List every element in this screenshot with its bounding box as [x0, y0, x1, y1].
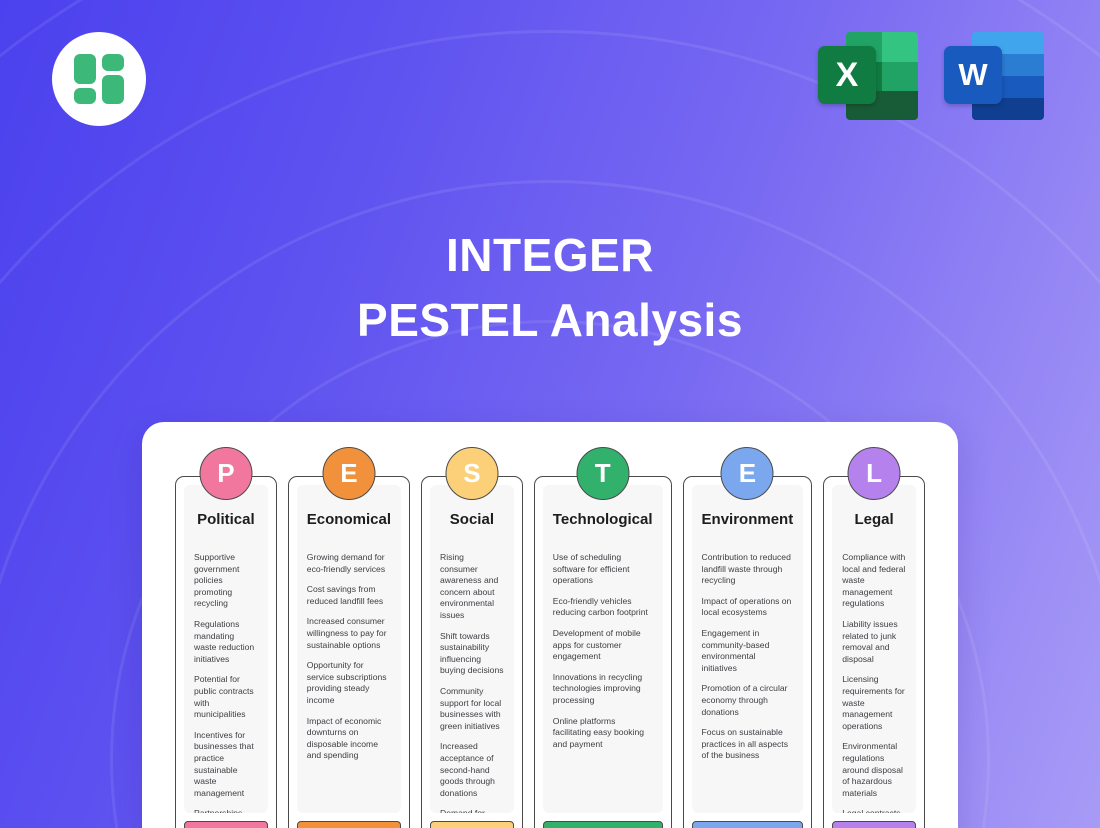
- column-title-environment: Environment: [702, 511, 794, 528]
- point-item: Potential for public contracts with muni…: [194, 674, 258, 720]
- point-item: Impact of economic downturns on disposab…: [307, 716, 391, 762]
- brand-logo[interactable]: [52, 32, 146, 126]
- column-title-economical: Economical: [307, 511, 391, 528]
- column-points-social: Rising consumer awareness and concern ab…: [440, 552, 504, 813]
- title-company: INTEGER: [0, 224, 1100, 286]
- column-title-social: Social: [440, 511, 504, 528]
- letter-badge-environment: E: [721, 447, 774, 500]
- pestel-column-environment[interactable]: EEnvironmentContribution to reduced land…: [683, 476, 813, 828]
- point-item: Incentives for businesses that practice …: [194, 730, 258, 800]
- point-item: Partnerships with local governments for …: [194, 808, 258, 813]
- word-letter-tile: W: [944, 46, 1002, 104]
- point-item: Environmental regulations around disposa…: [842, 741, 906, 799]
- excel-letter-tile: X: [818, 46, 876, 104]
- excel-band-2: [882, 32, 918, 62]
- logo-square-bottom-left: [74, 88, 96, 104]
- column-footer-bar-social: [430, 821, 514, 828]
- point-item: Growing demand for eco-friendly services: [307, 552, 391, 575]
- point-item: Licensing requirements for waste managem…: [842, 674, 906, 732]
- point-item: Eco-friendly vehicles reducing carbon fo…: [553, 596, 653, 619]
- point-item: Use of scheduling software for efficient…: [553, 552, 653, 587]
- point-item: Shift towards sustainability influencing…: [440, 631, 504, 677]
- column-body-economical: EconomicalGrowing demand for eco-friendl…: [297, 485, 401, 813]
- point-item: Opportunity for service subscriptions pr…: [307, 660, 391, 706]
- excel-band-4: [882, 62, 918, 91]
- column-title-technological: Technological: [553, 511, 653, 528]
- point-item: Promotion of a circular economy through …: [702, 683, 794, 718]
- logo-square-top-left: [74, 54, 96, 84]
- column-footer-bar-legal: [832, 821, 916, 828]
- letter-badge-economical: E: [322, 447, 375, 500]
- pestel-panel: PPoliticalSupportive government policies…: [142, 422, 958, 828]
- pestel-column-technological[interactable]: TTechnologicalUse of scheduling software…: [534, 476, 672, 828]
- page-title: INTEGER PESTEL Analysis: [0, 224, 1100, 354]
- column-body-environment: EnvironmentContribution to reduced landf…: [692, 485, 804, 813]
- column-points-political: Supportive government policies promoting…: [194, 552, 258, 813]
- pestel-column-economical[interactable]: EEconomicalGrowing demand for eco-friend…: [288, 476, 410, 828]
- column-footer-bar-technological: [543, 821, 663, 828]
- point-item: Increased consumer willingness to pay fo…: [307, 616, 391, 651]
- column-points-environment: Contribution to reduced landfill waste t…: [702, 552, 794, 762]
- title-subject: PESTEL Analysis: [0, 286, 1100, 354]
- point-item: Demand for educational resources on wast…: [440, 808, 504, 813]
- column-points-legal: Compliance with local and federal waste …: [842, 552, 906, 813]
- point-item: Contribution to reduced landfill waste t…: [702, 552, 794, 587]
- logo-square-bottom-right: [102, 75, 124, 104]
- point-item: Focus on sustainable practices in all as…: [702, 727, 794, 762]
- point-item: Engagement in community-based environmen…: [702, 628, 794, 674]
- column-title-political: Political: [194, 511, 258, 528]
- point-item: Community support for local businesses w…: [440, 686, 504, 732]
- point-item: Cost savings from reduced landfill fees: [307, 584, 391, 607]
- pestel-column-legal[interactable]: LLegalCompliance with local and federal …: [823, 476, 925, 828]
- point-item: Regulations mandating waste reduction in…: [194, 619, 258, 665]
- pestel-column-political[interactable]: PPoliticalSupportive government policies…: [175, 476, 277, 828]
- point-item: Legal contracts with recycling centers a…: [842, 808, 906, 813]
- point-item: Online platforms facilitating easy booki…: [553, 716, 653, 751]
- squares-grid-logo-icon: [74, 54, 124, 104]
- pestel-column-social[interactable]: SSocialRising consumer awareness and con…: [421, 476, 523, 828]
- point-item: Development of mobile apps for customer …: [553, 628, 653, 663]
- logo-square-top-right: [102, 54, 124, 71]
- point-item: Innovations in recycling technologies im…: [553, 672, 653, 707]
- column-body-social: SocialRising consumer awareness and conc…: [430, 485, 514, 813]
- point-item: Supportive government policies promoting…: [194, 552, 258, 610]
- column-footer-bar-economical: [297, 821, 401, 828]
- point-item: Liability issues related to junk removal…: [842, 619, 906, 665]
- point-item: Rising consumer awareness and concern ab…: [440, 552, 504, 622]
- column-body-legal: LegalCompliance with local and federal w…: [832, 485, 916, 813]
- letter-badge-social: S: [445, 447, 498, 500]
- excel-icon[interactable]: X: [818, 28, 918, 120]
- point-item: Increased acceptance of second-hand good…: [440, 741, 504, 799]
- word-icon[interactable]: W: [944, 28, 1044, 120]
- column-points-economical: Growing demand for eco-friendly services…: [307, 552, 391, 762]
- letter-badge-legal: L: [848, 447, 901, 500]
- letter-badge-political: P: [199, 447, 252, 500]
- column-body-political: PoliticalSupportive government policies …: [184, 485, 268, 813]
- point-item: Impact of operations on local ecosystems: [702, 596, 794, 619]
- column-body-technological: TechnologicalUse of scheduling software …: [543, 485, 663, 813]
- slide-canvas: X W INTEGER PESTEL Analysis PPoliticalSu…: [0, 0, 1100, 828]
- column-footer-bar-environment: [692, 821, 804, 828]
- column-title-legal: Legal: [842, 511, 906, 528]
- column-footer-bar-political: [184, 821, 268, 828]
- column-points-technological: Use of scheduling software for efficient…: [553, 552, 653, 750]
- letter-badge-technological: T: [576, 447, 629, 500]
- export-icon-group: X W: [818, 28, 1044, 120]
- point-item: Compliance with local and federal waste …: [842, 552, 906, 610]
- pestel-columns: PPoliticalSupportive government policies…: [175, 476, 925, 828]
